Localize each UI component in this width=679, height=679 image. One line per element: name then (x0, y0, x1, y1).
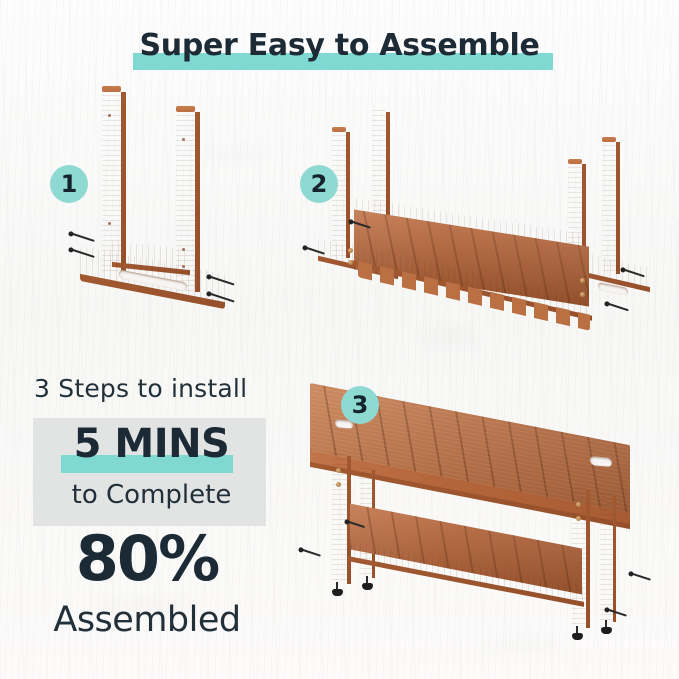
leg-post-side (346, 132, 350, 258)
leg-post-right-side (195, 112, 200, 292)
bolt-cap (576, 516, 581, 521)
step-1-illustration (60, 80, 260, 320)
leg-post (602, 140, 616, 274)
bolt-cap (348, 248, 353, 253)
leg-post-cap (602, 137, 616, 142)
step-badge-2: 2 (300, 165, 338, 203)
screw-hole (108, 114, 111, 117)
step-3-illustration (300, 390, 670, 665)
page-title: Super Easy to Assemble (0, 28, 679, 63)
bolt-cap (336, 468, 341, 473)
install-time-suffix: to Complete (44, 480, 259, 510)
title-text: Super Easy to Assemble (0, 28, 679, 63)
leg-post-cap (332, 127, 346, 132)
leg-post-right-cap (176, 106, 195, 112)
leg-post-side (616, 142, 620, 274)
step-badge-3-label: 3 (352, 391, 369, 419)
screw-hole (108, 222, 111, 225)
leg-post-left-cap (102, 86, 121, 92)
bench-leg-back-right (600, 494, 613, 622)
assembled-percent-value: 80% (22, 528, 272, 590)
bolt-cap (348, 260, 353, 265)
background-grain (420, 330, 480, 344)
bolt-cap (576, 502, 581, 507)
leg-post-cap (568, 159, 582, 164)
assembled-percent-label: Assembled (22, 600, 272, 640)
steps-to-install-label: 3 Steps to install (34, 374, 247, 403)
infographic-page: Super Easy to Assemble (0, 0, 679, 679)
step-badge-1-label: 1 (61, 170, 78, 198)
step-badge-2-label: 2 (311, 170, 328, 198)
bolt-cap (336, 482, 341, 487)
step-2-illustration (310, 120, 655, 330)
install-time-value: 5 MINS (44, 421, 259, 467)
step-badge-1: 1 (50, 165, 88, 203)
screw-hole (182, 138, 185, 141)
step-badge-3: 3 (341, 386, 379, 424)
bolt-cap (580, 278, 585, 283)
bench-leg-side (586, 490, 590, 628)
bench-leg-side (613, 496, 616, 622)
bolt-cap (580, 292, 585, 297)
